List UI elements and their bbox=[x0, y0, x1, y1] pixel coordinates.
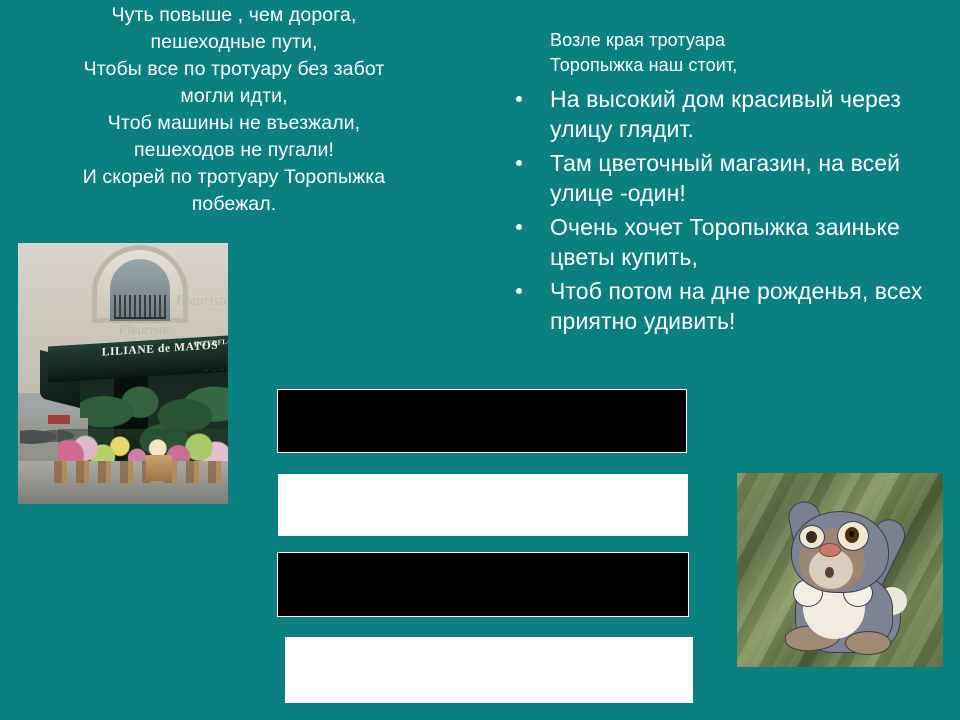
bunny-eye-highlight bbox=[849, 531, 854, 537]
list-item: Очень хочет Торопыжка заиньке цветы купи… bbox=[498, 212, 950, 272]
list-item: Там цветочный магазин, на всей улице -од… bbox=[498, 148, 950, 208]
photo-balcony bbox=[114, 295, 166, 319]
placeholder-box-3[interactable] bbox=[277, 552, 689, 617]
right-text-block: Возле края тротуара Торопыжка наш стоит,… bbox=[498, 28, 950, 340]
bullet-text: Очень хочет Торопыжка заиньке цветы купи… bbox=[550, 214, 900, 270]
list-item: На высокий дом красивый через улицу гляд… bbox=[498, 84, 950, 144]
bunny-mouth bbox=[825, 567, 834, 578]
photo-flower-pots bbox=[54, 461, 228, 483]
bullet-list: На высокий дом красивый через улицу гляд… bbox=[498, 84, 950, 336]
bunny-nose bbox=[819, 543, 841, 557]
flower-shop-image: Fleuriste Fleuriste LILIANE de MATOS INT… bbox=[18, 243, 228, 504]
bunny-image bbox=[737, 473, 943, 667]
photo-script-text: Fleuriste bbox=[176, 293, 228, 315]
bullet-text: На высокий дом красивый через улицу гляд… bbox=[550, 86, 901, 142]
placeholder-box-1[interactable] bbox=[277, 389, 687, 453]
photo-display-table bbox=[146, 455, 172, 481]
placeholder-box-2[interactable] bbox=[278, 474, 688, 536]
bullet-text: Чтоб потом на дне рожденья, всех приятно… bbox=[550, 278, 922, 334]
bullet-dot-icon bbox=[516, 96, 522, 102]
bullet-dot-icon bbox=[516, 224, 522, 230]
photo-shop-sign-side: INTERFLORA bbox=[194, 338, 228, 355]
bullet-text: Там цветочный магазин, на всей улице -од… bbox=[550, 150, 900, 206]
bullet-dot-icon bbox=[516, 288, 522, 294]
list-item: Чтоб потом на дне рожденья, всех приятно… bbox=[498, 276, 950, 336]
placeholder-box-4[interactable] bbox=[285, 637, 693, 703]
photo-red-sign bbox=[48, 415, 70, 424]
right-intro-text: Возле края тротуара Торопыжка наш стоит, bbox=[498, 28, 950, 78]
presentation-slide: Чуть повыше , чем дорога, пешеходные пут… bbox=[0, 0, 960, 720]
left-poem-text: Чуть повыше , чем дорога, пешеходные пут… bbox=[8, 2, 460, 218]
bullet-dot-icon bbox=[516, 160, 522, 166]
bunny-pupil-left bbox=[806, 531, 817, 543]
bunny-foot-right bbox=[845, 631, 891, 655]
